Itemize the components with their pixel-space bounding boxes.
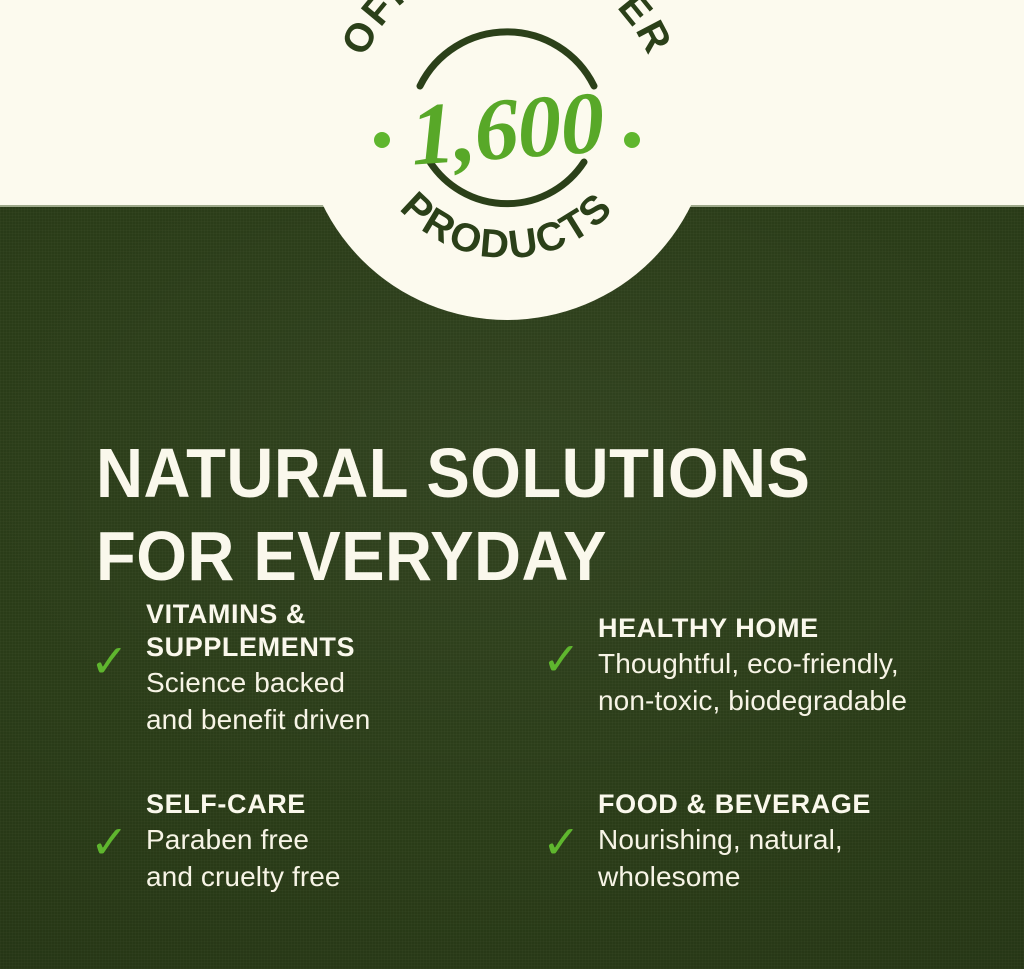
feature-title: FOOD & BEVERAGE [598, 788, 990, 821]
feature-description: Science backed and benefit driven [146, 664, 542, 738]
feature-text-block: VITAMINS & SUPPLEMENTS Science backed an… [146, 596, 542, 738]
feature-description: Nourishing, natural, wholesome [598, 821, 990, 895]
feature-list: ✓ VITAMINS & SUPPLEMENTS Science backed … [90, 596, 990, 895]
checkmark-icon: ✓ [90, 596, 146, 684]
feature-item-food-beverage: ✓ FOOD & BEVERAGE Nourishing, natural, w… [542, 786, 990, 895]
feature-item-vitamins-supplements: ✓ VITAMINS & SUPPLEMENTS Science backed … [90, 596, 542, 738]
feature-text-block: HEALTHY HOME Thoughtful, eco-friendly, n… [598, 610, 990, 719]
feature-title: HEALTHY HOME [598, 612, 990, 645]
feature-description: Paraben free and cruelty free [146, 821, 542, 895]
promo-banner: OFFERING OVER PRODUCTS 1,600 NATURAL SOL… [0, 0, 1024, 969]
checkmark-icon: ✓ [90, 786, 146, 865]
feature-text-block: SELF-CARE Paraben free and cruelty free [146, 786, 542, 895]
feature-title: VITAMINS & SUPPLEMENTS [146, 598, 542, 664]
badge-ring-text-bottom: PRODUCTS [392, 184, 621, 268]
feature-text-block: FOOD & BEVERAGE Nourishing, natural, who… [598, 786, 990, 895]
feature-item-self-care: ✓ SELF-CARE Paraben free and cruelty fre… [90, 786, 542, 895]
checkmark-icon: ✓ [542, 610, 598, 682]
offering-over-badge: OFFERING OVER PRODUCTS 1,600 [302, 0, 712, 320]
feature-item-healthy-home: ✓ HEALTHY HOME Thoughtful, eco-friendly,… [542, 610, 990, 738]
checkmark-icon: ✓ [542, 786, 598, 865]
page-title: NATURAL SOLUTIONS FOR EVERYDAY [96, 432, 914, 598]
feature-description: Thoughtful, eco-friendly, non-toxic, bio… [598, 645, 990, 719]
feature-title: SELF-CARE [146, 788, 542, 821]
